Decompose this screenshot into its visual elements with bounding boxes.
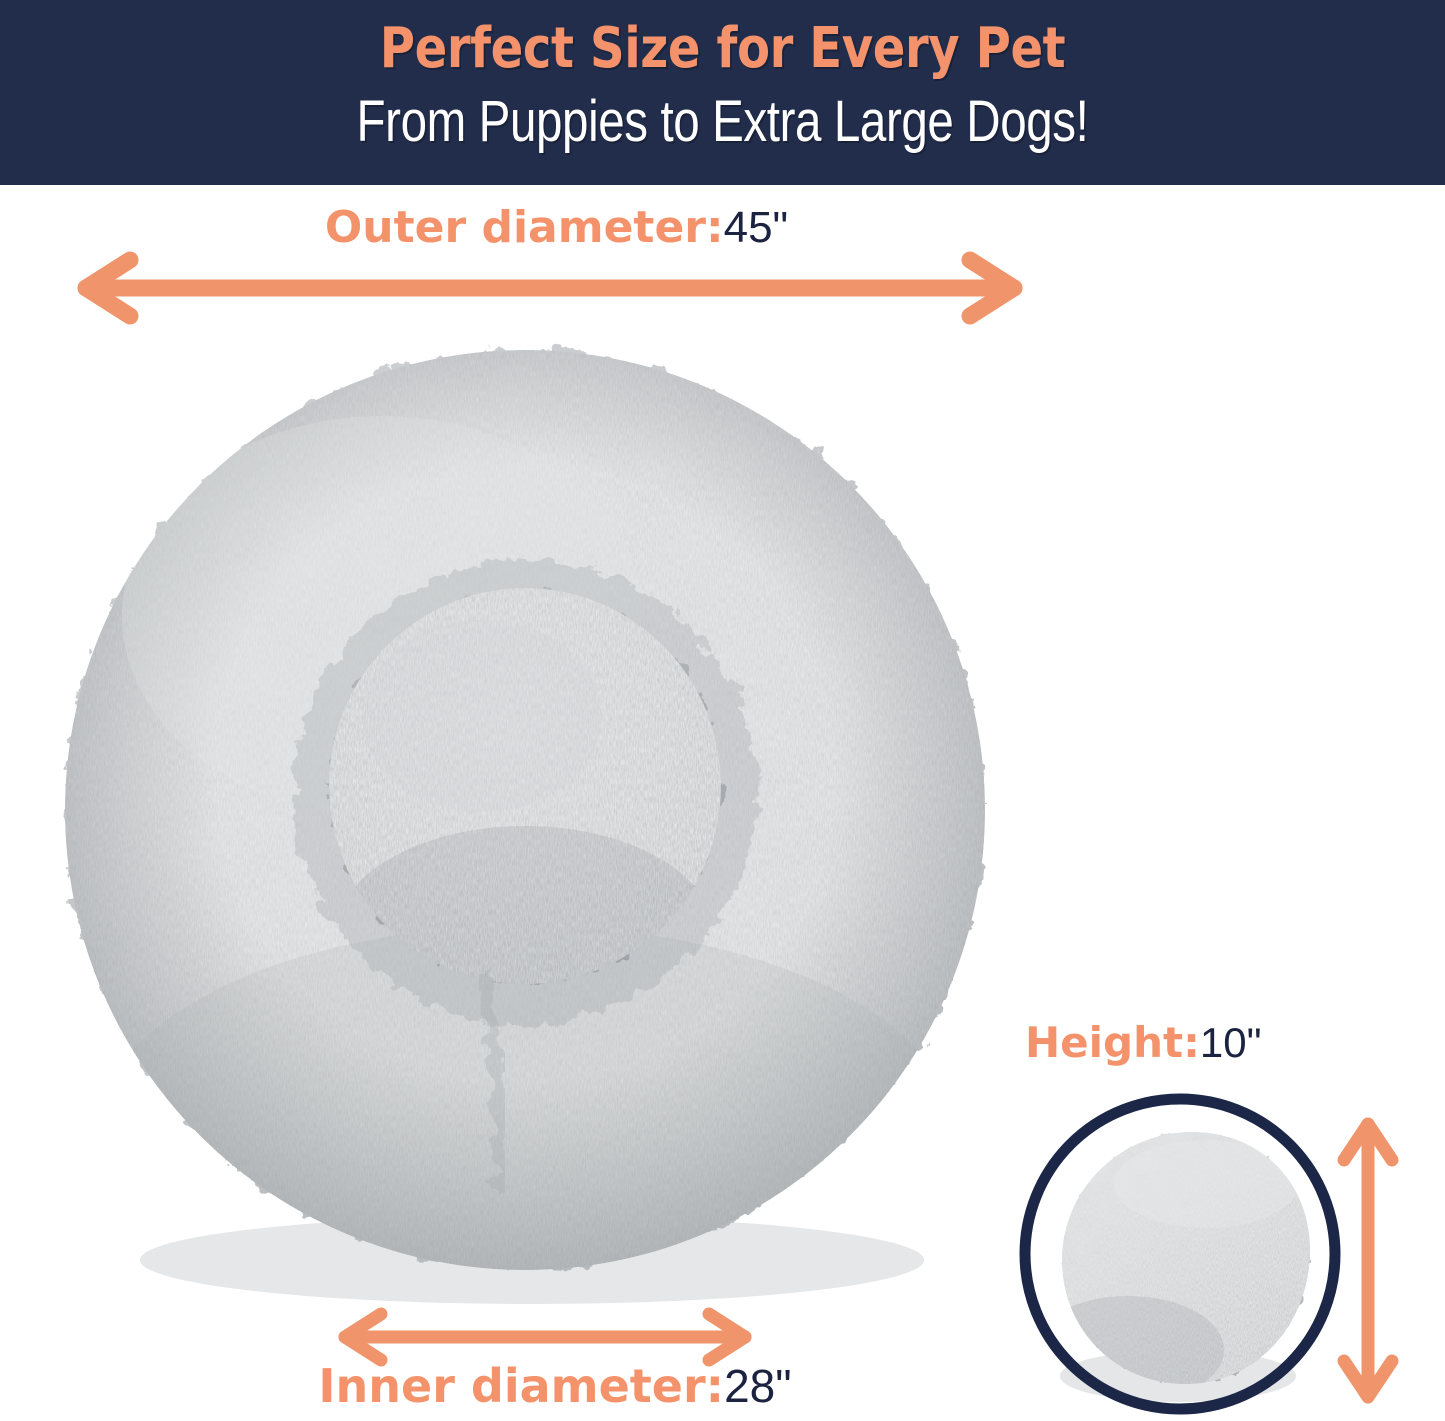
infographic-page: Perfect Size for Every Pet From Puppies … xyxy=(0,0,1445,1421)
outer-diameter-label: Outer diameter:45" xyxy=(0,206,1113,250)
inner-diameter-value: 28" xyxy=(724,1360,792,1412)
outer-diameter-label-text: Outer diameter: xyxy=(325,202,724,253)
height-label-text: Height: xyxy=(1025,1018,1200,1067)
page-title: Perfect Size for Every Pet xyxy=(101,16,1344,81)
inner-diameter-label-text: Inner diameter: xyxy=(318,1359,724,1413)
inner-diameter-label: Inner diameter:28" xyxy=(0,1363,1110,1409)
page-subtitle: From Puppies to Extra Large Dogs! xyxy=(130,88,1315,155)
outer-diameter-value: 45" xyxy=(724,203,789,252)
bed-top-view-image xyxy=(52,316,998,1304)
height-label: Height:10" xyxy=(1025,1022,1425,1064)
height-value: 10" xyxy=(1200,1019,1262,1066)
outer-diameter-arrow-icon xyxy=(60,252,1040,322)
height-arrow-icon xyxy=(1336,1108,1400,1413)
bed-side-view-inset xyxy=(1010,1088,1350,1421)
inner-diameter-arrow-icon xyxy=(325,1308,765,1366)
header-banner: Perfect Size for Every Pet From Puppies … xyxy=(0,0,1445,185)
